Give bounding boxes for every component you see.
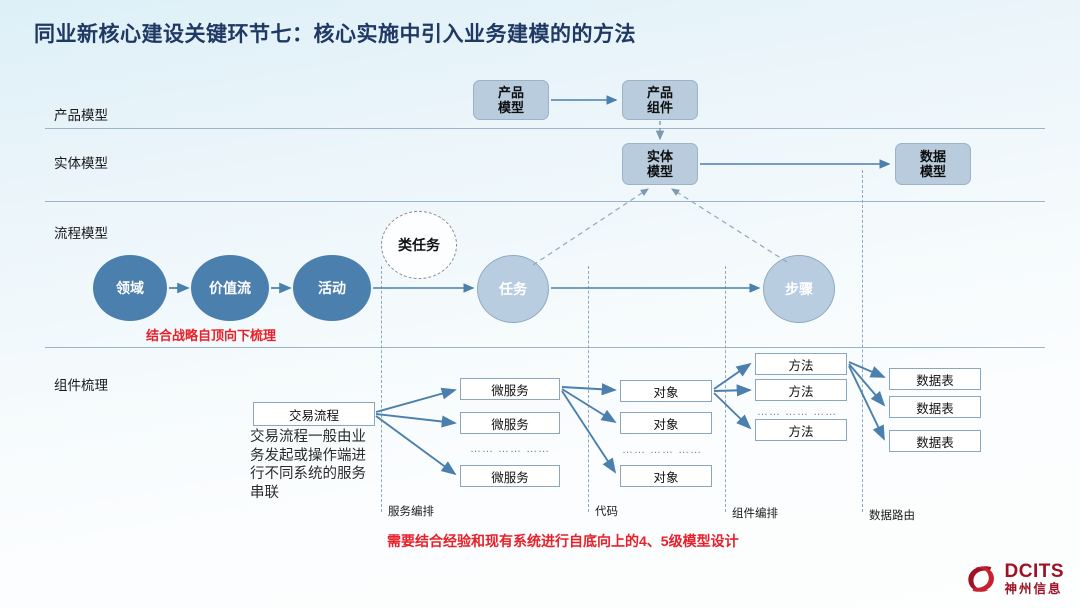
box-product-component[interactable]: 产品 组件: [622, 80, 698, 120]
column-separator-3: [725, 266, 726, 512]
box-data-table-1[interactable]: 数据表: [889, 368, 981, 390]
box-method-1[interactable]: 方法: [755, 353, 847, 375]
circle-activity[interactable]: 活动: [293, 255, 371, 321]
dcits-swirl-icon: [965, 562, 999, 596]
divider-entity-process: [45, 201, 1045, 202]
box-microservice-3-label: 微服务: [491, 467, 529, 486]
box-product-component-line2: 组件: [647, 100, 673, 115]
box-entity-model-line1: 实体: [647, 149, 673, 164]
circle-domain-label: 领域: [116, 278, 144, 298]
column-label-code: 代码: [595, 503, 618, 519]
divider-product-entity: [45, 128, 1045, 129]
box-object-3[interactable]: 对象: [620, 465, 712, 487]
box-data-table-3[interactable]: 数据表: [889, 430, 981, 452]
box-transaction-flow[interactable]: 交易流程: [253, 402, 375, 426]
annotation-bottom-up: 需要结合经验和现有系统进行自底向上的4、5级模型设计: [387, 531, 739, 551]
transaction-flow-description: 交易流程一般由业务发起或操作端进行不同系统的服务串联: [250, 428, 370, 502]
circle-task-class[interactable]: 类任务: [381, 211, 457, 279]
box-product-model[interactable]: 产品 模型: [473, 80, 549, 120]
column-label-component-orchestration: 组件编排: [732, 505, 778, 521]
box-data-model-line1: 数据: [920, 149, 946, 164]
box-microservice-2[interactable]: 微服务: [460, 412, 560, 434]
box-data-table-3-label: 数据表: [916, 432, 954, 451]
row-label-entity-model: 实体模型: [54, 152, 108, 172]
box-object-2[interactable]: 对象: [620, 412, 712, 434]
brand-logo: DCITS 神州信息: [965, 562, 1065, 596]
circle-domain[interactable]: 领域: [93, 255, 167, 321]
logo-text-cn: 神州信息: [1005, 583, 1065, 596]
box-data-model-line2: 模型: [920, 164, 946, 179]
box-object-2-label: 对象: [653, 414, 678, 433]
box-method-2[interactable]: 方法: [755, 379, 847, 401]
box-entity-model-line2: 模型: [647, 164, 673, 179]
annotation-top-down: 结合战略自顶向下梳理: [146, 325, 276, 344]
box-entity-model[interactable]: 实体 模型: [622, 143, 698, 185]
box-method-2-label: 方法: [788, 381, 813, 400]
row-label-component-inventory: 组件梳理: [54, 374, 108, 394]
circle-step[interactable]: 步骤: [763, 255, 835, 323]
row-label-process-model: 流程模型: [54, 222, 108, 242]
box-object-1-label: 对象: [653, 382, 678, 401]
circle-value-stream[interactable]: 价值流: [191, 255, 269, 321]
slide-canvas: 同业新核心建设关键环节七：核心实施中引入业务建模的的方法 产品模型 实体模型 流…: [0, 0, 1080, 608]
box-product-component-line1: 产品: [647, 85, 673, 100]
page-title: 同业新核心建设关键环节七：核心实施中引入业务建模的的方法: [34, 18, 636, 48]
box-method-3[interactable]: 方法: [755, 419, 847, 441]
box-microservice-2-label: 微服务: [491, 414, 529, 433]
box-product-model-line1: 产品: [498, 85, 524, 100]
column-label-service-orchestration: 服务编排: [388, 503, 434, 519]
column-separator-2: [588, 266, 589, 512]
column-separator-1: [381, 266, 382, 512]
box-data-table-2[interactable]: 数据表: [889, 396, 981, 418]
column-label-data-routing: 数据路由: [869, 507, 915, 523]
circle-value-stream-label: 价值流: [209, 278, 251, 298]
box-data-model[interactable]: 数据 模型: [895, 143, 971, 185]
box-object-1[interactable]: 对象: [620, 380, 712, 402]
circle-task-label: 任务: [499, 279, 527, 299]
ellipsis-objects: …… …… ……: [622, 444, 702, 456]
circle-task-class-label: 类任务: [398, 235, 440, 255]
box-transaction-flow-label: 交易流程: [289, 405, 339, 424]
box-object-3-label: 对象: [653, 467, 678, 486]
box-microservice-1[interactable]: 微服务: [460, 378, 560, 400]
logo-text-block: DCITS 神州信息: [1005, 562, 1065, 596]
box-data-table-2-label: 数据表: [916, 398, 954, 417]
logo-text-en: DCITS: [1005, 562, 1065, 581]
row-label-product-model: 产品模型: [54, 104, 108, 124]
box-data-table-1-label: 数据表: [916, 370, 954, 389]
box-method-1-label: 方法: [788, 355, 813, 374]
circle-step-label: 步骤: [785, 279, 813, 299]
box-microservice-1-label: 微服务: [491, 380, 529, 399]
circle-activity-label: 活动: [318, 278, 346, 298]
box-microservice-3[interactable]: 微服务: [460, 465, 560, 487]
divider-process-component: [45, 347, 1045, 348]
column-separator-4: [862, 170, 863, 512]
box-product-model-line2: 模型: [498, 100, 524, 115]
ellipsis-microservices: …… …… ……: [470, 443, 550, 455]
ellipsis-methods: …… …… ……: [757, 406, 837, 418]
circle-task[interactable]: 任务: [477, 255, 549, 323]
box-method-3-label: 方法: [788, 421, 813, 440]
